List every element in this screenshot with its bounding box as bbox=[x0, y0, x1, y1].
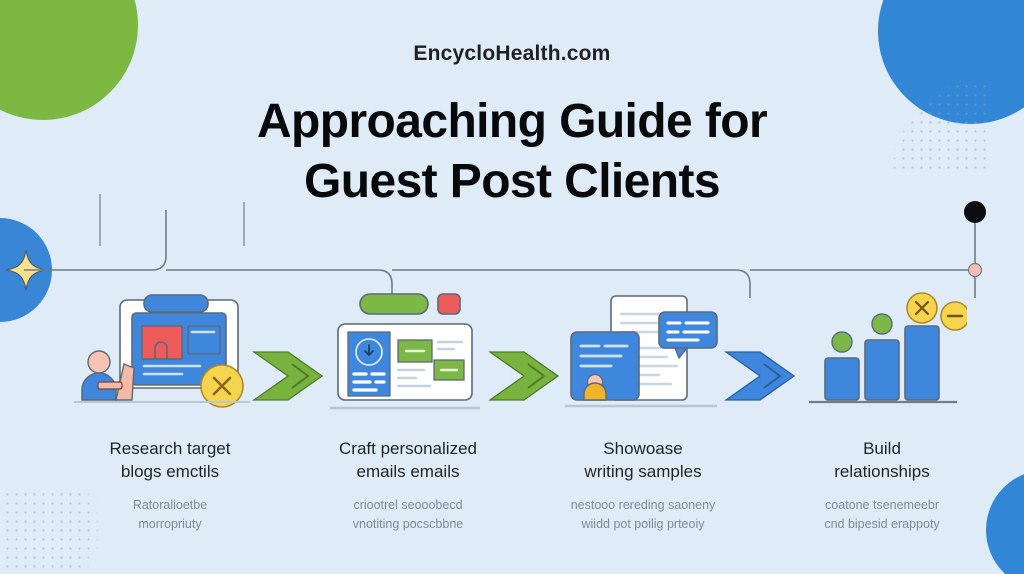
person-at-browser-window-icon bbox=[72, 290, 268, 418]
brand-name: EncycloHealth.com bbox=[0, 42, 1024, 66]
step-4-sublabel: coatone tsenemeebrcnd bipesid erappoty bbox=[767, 496, 997, 534]
chevron-arrow-right-icon-2 bbox=[488, 348, 566, 404]
step-3-sublabel: nestooo rereding saonenywiidd pot poilig… bbox=[528, 496, 758, 534]
step-4-label: Buildrelationships bbox=[767, 438, 997, 484]
step-2-sublabel: criootrel seooobecdvnotiting pocscbbne bbox=[293, 496, 523, 534]
timeline-node-marker bbox=[969, 264, 982, 277]
steps-row: Research targetblogs emctils Ratoralioet… bbox=[0, 286, 1024, 546]
timeline-connector bbox=[0, 188, 1024, 298]
infographic-canvas: EncycloHealth.com Approaching Guide for … bbox=[0, 0, 1024, 574]
timeline-end-marker bbox=[964, 201, 986, 223]
step-1-sublabel: Ratoralioetbemorropriuty bbox=[55, 496, 285, 534]
chevron-arrow-right-icon-3 bbox=[724, 348, 802, 404]
bar-chart-growth-icon bbox=[797, 290, 967, 418]
laptop-email-compose-icon bbox=[328, 290, 488, 418]
step-3-label: Showoasewriting samples bbox=[528, 438, 758, 484]
step-1-illustration bbox=[55, 286, 285, 418]
step-item-showcase-writing-samples[interactable]: Showoasewriting samples nestooo rereding… bbox=[528, 286, 758, 533]
step-2-label: Craft personalizedemails emails bbox=[293, 438, 523, 484]
step-1-label: Research targetblogs emctils bbox=[55, 438, 285, 484]
page-title-line-1: Approaching Guide for bbox=[257, 95, 767, 148]
documents-with-chat-bubble-icon bbox=[563, 290, 723, 418]
step-item-research-target-blogs[interactable]: Research targetblogs emctils Ratoralioet… bbox=[55, 286, 285, 533]
step-item-build-relationships[interactable]: Buildrelationships coatone tsenemeebrcnd… bbox=[767, 286, 997, 533]
step-item-craft-personalized-emails[interactable]: Craft personalizedemails emails criootre… bbox=[293, 286, 523, 533]
chevron-arrow-right-icon-1 bbox=[252, 348, 330, 404]
